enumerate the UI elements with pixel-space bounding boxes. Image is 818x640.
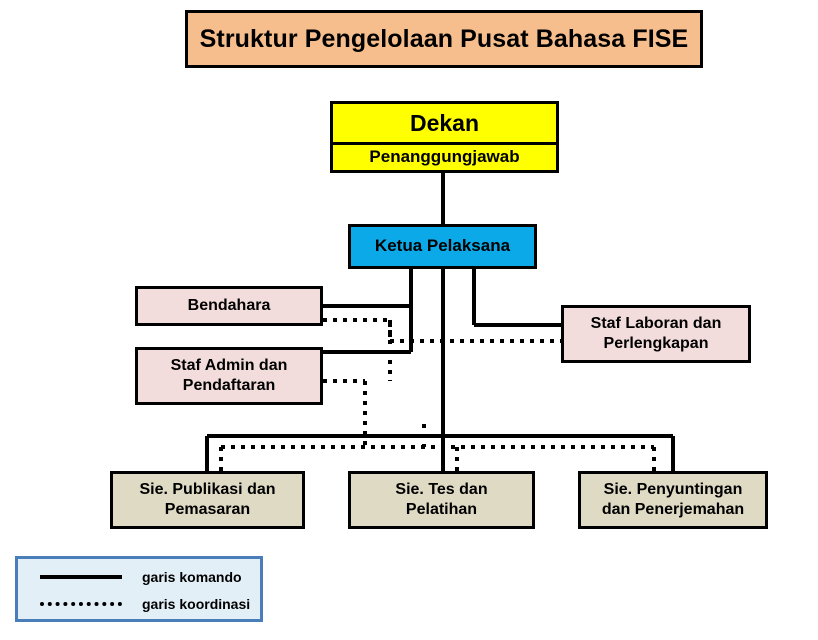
legend-item-koordinasi: garis koordinasi — [18, 590, 260, 618]
node-dekan-title: Dekan — [333, 104, 556, 142]
node-dekan-role: Penanggungjawab — [333, 142, 556, 170]
node-staf-laboran-line2: Perlengkapan — [604, 334, 709, 354]
node-staf-admin-line1: Staf Admin dan — [171, 356, 288, 376]
solid-line-icon — [40, 572, 122, 582]
legend: garis komando garis koordinasi — [15, 556, 263, 622]
legend-item-komando: garis komando — [18, 563, 260, 591]
node-staf-laboran[interactable]: Staf Laboran dan Perlengkapan — [561, 305, 751, 363]
legend-label-koordinasi: garis koordinasi — [142, 596, 250, 612]
node-sie-tes-line1: Sie. Tes dan — [395, 480, 487, 500]
node-dekan[interactable]: Dekan Penanggungjawab — [330, 101, 559, 173]
node-sie-tes[interactable]: Sie. Tes dan Pelatihan — [348, 471, 535, 529]
node-bendahara[interactable]: Bendahara — [135, 286, 323, 326]
legend-label-komando: garis komando — [142, 569, 242, 585]
node-sie-tes-line2: Pelatihan — [406, 500, 477, 520]
node-staf-laboran-line1: Staf Laboran dan — [591, 314, 722, 334]
dotted-line-icon — [40, 599, 122, 609]
node-staf-admin[interactable]: Staf Admin dan Pendaftaran — [135, 347, 323, 405]
page-title: Struktur Pengelolaan Pusat Bahasa FISE — [185, 10, 703, 68]
node-ketua-pelaksana-label: Ketua Pelaksana — [375, 236, 510, 257]
node-ketua-pelaksana[interactable]: Ketua Pelaksana — [348, 224, 537, 269]
node-sie-publikasi[interactable]: Sie. Publikasi dan Pemasaran — [110, 471, 305, 529]
node-sie-publikasi-line2: Pemasaran — [165, 500, 250, 520]
org-chart-canvas: Struktur Pengelolaan Pusat Bahasa FISE D… — [0, 0, 818, 640]
node-sie-penyuntingan-line2: dan Penerjemahan — [602, 500, 744, 520]
line-koord-bendahara — [323, 320, 390, 341]
node-sie-penyuntingan-line1: Sie. Penyuntingan — [604, 480, 743, 500]
node-bendahara-line1: Bendahara — [188, 296, 271, 316]
node-sie-publikasi-line1: Sie. Publikasi dan — [139, 480, 275, 500]
node-sie-penyuntingan[interactable]: Sie. Penyuntingan dan Penerjemahan — [578, 471, 768, 529]
node-staf-admin-line2: Pendaftaran — [183, 376, 275, 396]
